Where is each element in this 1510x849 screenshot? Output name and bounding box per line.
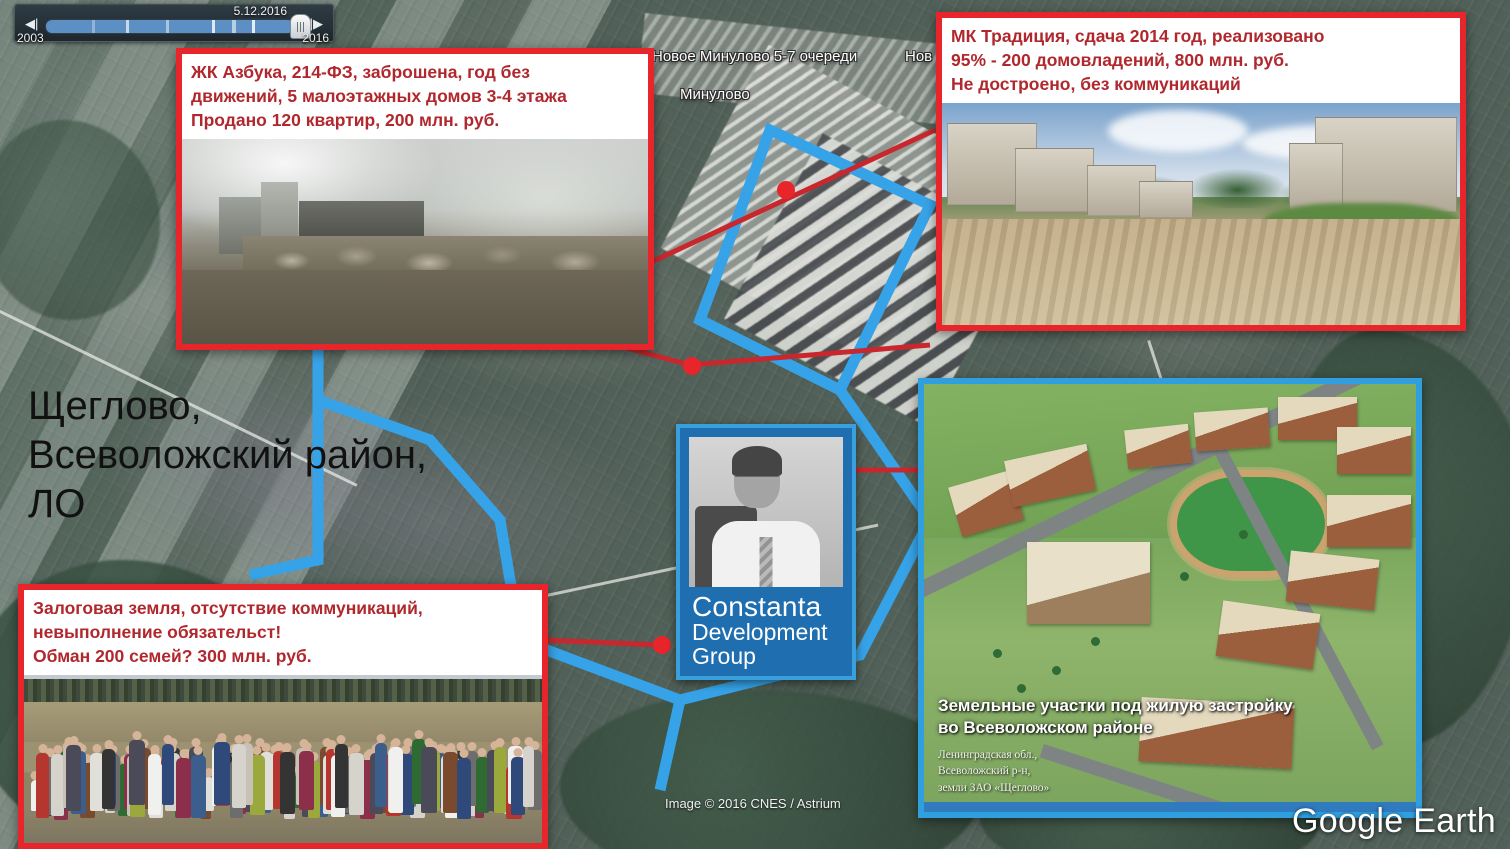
- abandoned-construction-site-photo: [182, 139, 648, 344]
- render-tree: [993, 649, 1002, 658]
- callout-azbuka-caption: ЖК Азбука, 214-ФЗ, заброшена, год без дв…: [182, 54, 648, 139]
- photo-person: [299, 751, 314, 809]
- map-pin: [683, 357, 701, 375]
- callout-traditsiya-caption: МК Традиция, сдача 2014 год, реализовано…: [942, 18, 1460, 103]
- render-building-block: [1193, 407, 1269, 451]
- portrait-tie: [760, 537, 773, 587]
- render-tree: [1091, 637, 1100, 646]
- callout-zalog[interactable]: Залоговая земля, отсутствие коммуникаций…: [18, 584, 548, 849]
- place-label-nov: Нов: [905, 48, 932, 65]
- render-subtitle-line-1: Ленинградская обл.,: [938, 747, 1361, 763]
- map-pin: [777, 181, 795, 199]
- callout-azbuka[interactable]: ЖК Азбука, 214-ФЗ, заброшена, год без дв…: [176, 48, 654, 350]
- photo-person: [36, 753, 49, 818]
- region-title-label: Щеглово, Всеволожский район, ЛО: [28, 382, 508, 528]
- photo-person: [162, 744, 175, 805]
- masterplan-3d-render: Земельные участки под жилую застройку во…: [924, 384, 1416, 812]
- portrait-hair: [732, 446, 782, 476]
- google-earth-presentation: 5.12.2016 ◀| |▶ 2003 2016 Новое Минулово…: [0, 0, 1510, 849]
- time-slider-end-year: 2016: [302, 31, 329, 45]
- google-earth-logo-word-2: Earth: [1413, 802, 1496, 840]
- photo-person: [335, 744, 348, 808]
- render-subtitle-line-3: земли ЗАО «Щеглово»: [938, 780, 1361, 796]
- render-building-block: [1337, 427, 1411, 474]
- callout-traditsiya[interactable]: МК Традиция, сдача 2014 год, реализовано…: [936, 12, 1466, 331]
- photo-building: [1015, 148, 1095, 212]
- photo-person: [349, 753, 365, 816]
- render-tree: [1052, 666, 1061, 675]
- time-slider-current-date: 5.12.2016: [234, 4, 287, 18]
- photo-ground: [182, 270, 648, 344]
- place-label-novoe-minulovo: Новое Минулово 5-7 очереди: [652, 48, 857, 65]
- logo-line-group: Group: [692, 645, 828, 668]
- photo-person: [457, 758, 471, 819]
- skip-to-start-icon[interactable]: ◀|: [25, 17, 38, 30]
- masterplan-render-card[interactable]: Земельные участки под жилую застройку во…: [918, 378, 1422, 818]
- photo-person: [102, 749, 115, 809]
- photo-person: [421, 747, 437, 813]
- portrait-glasses: [735, 476, 779, 486]
- photo-person: [375, 743, 387, 807]
- time-slider-start-year: 2003: [17, 31, 44, 45]
- executive-portrait: [689, 437, 843, 587]
- boundary-polygon-north: [700, 130, 930, 390]
- callout-traditsiya-line-1: МК Традиция, сдача 2014 год, реализовано: [951, 25, 1451, 48]
- render-subtitle-line-2: Всеволожский р-н,: [938, 763, 1361, 779]
- constanta-logo-card[interactable]: Constanta Development Group: [676, 424, 856, 680]
- photo-dirt-road: [942, 219, 1460, 326]
- google-earth-logo-word-1: Google: [1292, 802, 1403, 840]
- logo-line-constanta: Constanta: [692, 593, 828, 622]
- callout-azbuka-line-1: ЖК Азбука, 214-ФЗ, заброшена, год без: [191, 61, 639, 84]
- render-caption: Земельные участки под жилую застройку во…: [938, 695, 1361, 796]
- unfinished-townhouses-photo: [942, 103, 1460, 325]
- render-tree: [1180, 572, 1189, 581]
- logo-line-development: Development: [692, 621, 828, 644]
- photo-person: [214, 742, 230, 804]
- google-earth-logo: Google Earth: [1292, 802, 1496, 841]
- photo-person: [191, 755, 206, 819]
- render-title-line-2: во Всеволожском районе: [938, 717, 1361, 738]
- render-tree: [1239, 530, 1248, 539]
- photo-person: [232, 744, 246, 808]
- photo-person: [389, 747, 404, 813]
- render-building-block: [1124, 424, 1192, 469]
- render-title-line-1: Земельные участки под жилую застройку: [938, 695, 1361, 716]
- leader-line-azbuka-2: [690, 345, 930, 365]
- photo-forest-line: [24, 679, 542, 703]
- region-title-line-1: Щеглово,: [28, 382, 508, 431]
- boundary-polygon-south: [660, 700, 680, 790]
- callout-zalog-line-1: Залоговая земля, отсутствие коммуникаций…: [33, 597, 533, 620]
- time-slider-track[interactable]: [45, 19, 295, 34]
- skip-to-end-icon[interactable]: |▶: [310, 17, 323, 30]
- region-title-line-3: ЛО: [28, 480, 508, 529]
- place-label-minulovo: Минулово: [680, 86, 750, 103]
- callout-zalog-line-3: Обман 200 семей? 300 млн. руб.: [33, 645, 533, 668]
- imagery-attribution: Image © 2016 CNES / Astrium: [665, 796, 841, 811]
- map-pin: [653, 636, 671, 654]
- render-school-building: [1027, 542, 1150, 623]
- photo-field: [24, 702, 542, 742]
- historical-imagery-time-slider[interactable]: 5.12.2016 ◀| |▶ 2003 2016: [14, 4, 334, 42]
- photo-person: [280, 752, 295, 814]
- callout-traditsiya-line-2: 95% - 200 домовладений, 800 млн. руб.: [951, 49, 1451, 72]
- photo-building: [1139, 181, 1193, 219]
- photo-person: [129, 740, 145, 805]
- render-subtitle: Ленинградская обл., Всеволожский р-н, зе…: [938, 747, 1361, 796]
- callout-azbuka-line-2: движений, 5 малоэтажных домов 3-4 этажа: [191, 85, 639, 108]
- photo-building: [1289, 143, 1343, 212]
- photo-person: [66, 745, 82, 811]
- photo-person: [523, 746, 535, 807]
- render-building-block: [1327, 495, 1411, 546]
- render-building-block: [1286, 551, 1379, 611]
- residents-crowd-photo: [24, 675, 542, 843]
- callout-traditsiya-line-3: Не достроено, без коммуникаций: [951, 73, 1451, 96]
- photo-person: [494, 747, 506, 813]
- time-slider-imagery-ticks: [46, 20, 294, 33]
- photo-person: [148, 754, 162, 815]
- photo-cloud: [1108, 110, 1248, 152]
- leader-line-zalog: [545, 640, 660, 645]
- callout-azbuka-line-3: Продано 120 квартир, 200 млн. руб.: [191, 109, 639, 132]
- region-title-line-2: Всеволожский район,: [28, 431, 508, 480]
- constanta-logo-text: Constanta Development Group: [692, 593, 828, 668]
- photo-person: [176, 758, 191, 818]
- callout-zalog-line-2: невыполнение обязательст!: [33, 621, 533, 644]
- render-tree: [1017, 684, 1026, 693]
- callout-zalog-caption: Залоговая земля, отсутствие коммуникаций…: [24, 590, 542, 675]
